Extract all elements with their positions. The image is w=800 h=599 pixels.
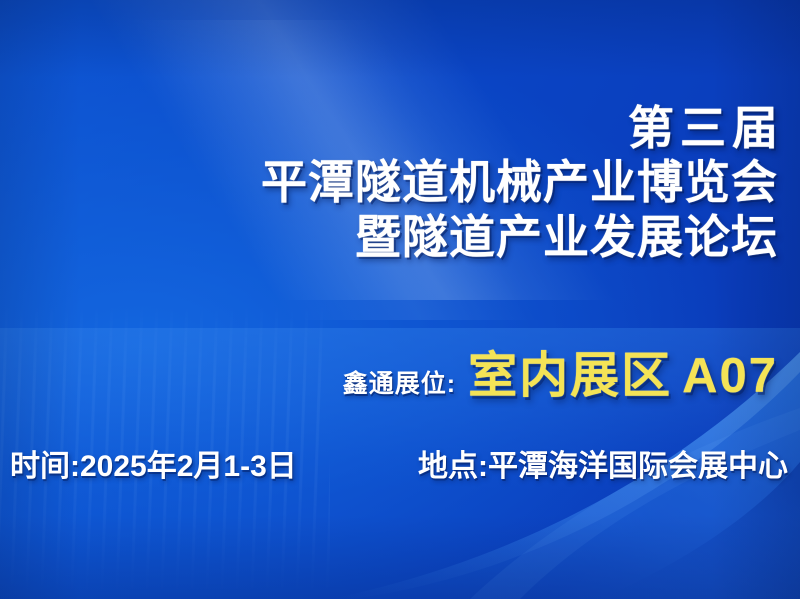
event-venue: 地点:平潭海洋国际会展中心 [418,441,788,485]
event-title-sub: 暨隧道产业发展论坛 [261,213,778,263]
booth-area: 室内展区 [468,349,672,403]
banner-content: 第三届 平潭隧道机械产业博览会 暨隧道产业发展论坛 鑫通展位: 室内展区A07 … [0,0,800,599]
booth-row: 鑫通展位: 室内展区A07 [343,336,778,407]
booth-code: A07 [682,349,778,403]
event-edition: 第三届 [261,104,784,154]
exhibition-banner: 第三届 平潭隧道机械产业博览会 暨隧道产业发展论坛 鑫通展位: 室内展区A07 … [0,0,800,599]
event-info-row: 时间:2025年2月1-3日 地点:平潭海洋国际会展中心 [10,441,788,485]
booth-label: 鑫通展位: [343,364,456,400]
event-title-block: 第三届 平潭隧道机械产业博览会 暨隧道产业发展论坛 [261,104,778,263]
event-title-main: 平潭隧道机械产业博览会 [261,158,778,208]
booth-location: 室内展区A07 [468,336,778,407]
event-date: 时间:2025年2月1-3日 [10,441,297,485]
